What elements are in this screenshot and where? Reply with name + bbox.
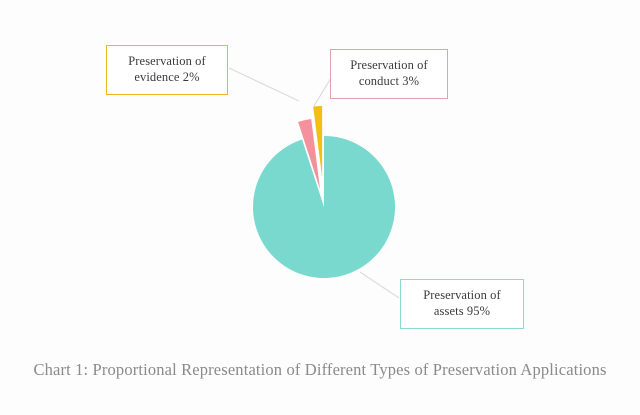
callout-assets-line2: assets 95% — [410, 303, 514, 319]
callout-evidence-line1: Preservation of — [116, 53, 218, 69]
pie-slice-preservation-of-assets[interactable] — [253, 136, 395, 278]
callout-evidence-line2: evidence 2% — [116, 69, 218, 85]
callout-preservation-of-assets[interactable]: Preservation of assets 95% — [400, 279, 524, 329]
leader-line-conduct — [314, 78, 331, 106]
callout-preservation-of-evidence[interactable]: Preservation of evidence 2% — [106, 45, 228, 95]
callout-conduct-line1: Preservation of — [340, 57, 438, 73]
pie-slices — [253, 106, 395, 278]
callout-assets-line1: Preservation of — [410, 287, 514, 303]
chart-caption: Chart 1: Proportional Representation of … — [0, 360, 640, 380]
leader-line-evidence — [229, 68, 299, 101]
leader-line-assets — [360, 272, 399, 298]
pie-chart-canvas — [0, 0, 640, 415]
callout-preservation-of-conduct[interactable]: Preservation of conduct 3% — [330, 49, 448, 99]
pie-chart-figure: Preservation of evidence 2% Preservation… — [0, 0, 640, 415]
callout-conduct-line2: conduct 3% — [340, 73, 438, 89]
